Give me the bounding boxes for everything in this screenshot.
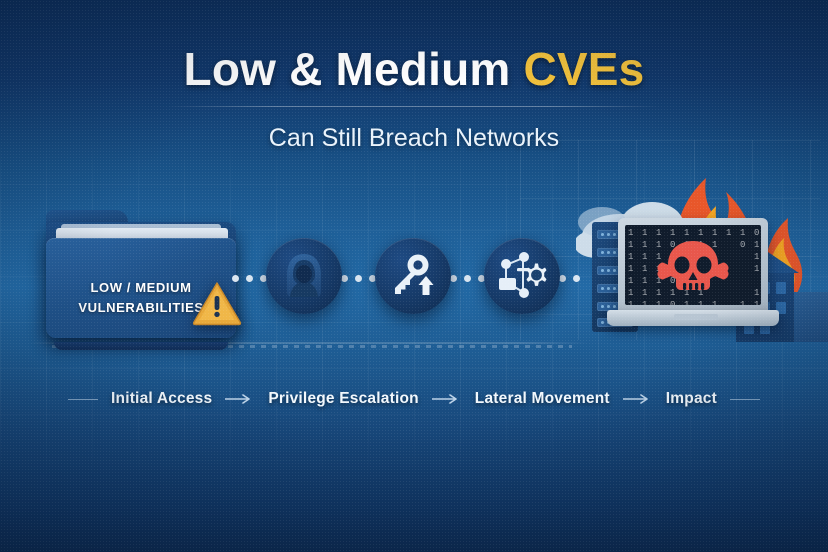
connector-dots-2 [341, 275, 376, 282]
dot [246, 275, 253, 282]
chain-line-start [68, 399, 98, 400]
stage-icon-privilege-escalation [375, 238, 451, 314]
infographic-canvas: Low & Medium CVEs Can Still Breach Netwo… [0, 0, 828, 552]
impact-scene: 1 1 1 1 1 1 1 1 1 0 1 0 1 1 1 1 1 1 0 1 … [576, 160, 828, 360]
folder-shadow-strip [54, 342, 228, 350]
key-up-arrow-icon [385, 248, 441, 304]
laptop-trackpad [674, 314, 718, 320]
burning-laptop-skull-icon: 1 1 1 1 1 1 1 1 1 0 1 0 1 1 1 1 1 1 0 1 … [618, 218, 768, 338]
dot [355, 275, 362, 282]
title-divider [168, 106, 660, 107]
page-title-plain: Low & Medium [184, 43, 524, 95]
stage-icon-initial-access [266, 238, 342, 314]
laptop-lid: 1 1 1 1 1 1 1 1 1 0 1 0 1 1 1 1 1 1 0 1 … [618, 218, 768, 312]
chain-step-impact: Impact [666, 390, 717, 408]
laptop-screen: 1 1 1 1 1 1 1 1 1 0 1 0 1 1 1 1 1 1 0 1 … [625, 225, 761, 305]
chain-step-privilege-escalation: Privilege Escalation [268, 390, 418, 408]
page-subtitle: Can Still Breach Networks [0, 124, 828, 153]
chain-arrow-icon [432, 394, 462, 404]
warning-triangle-icon [192, 280, 242, 326]
dot [559, 275, 566, 282]
chain-step-lateral-movement: Lateral Movement [475, 390, 610, 408]
chain-arrow-icon [623, 394, 653, 404]
attack-chain-labels: Initial Access Privilege Escalation Late… [0, 390, 828, 408]
header-block: Low & Medium CVEs [0, 44, 828, 95]
chain-arrow-icon [225, 394, 255, 404]
dot [450, 275, 457, 282]
office-building-secondary [790, 292, 828, 342]
skull-and-crossbones-icon [653, 239, 733, 302]
page-title: Low & Medium CVEs [0, 44, 828, 95]
hooded-hacker-icon [276, 248, 332, 304]
page-title-accent: CVEs [523, 43, 644, 95]
chain-line-end [730, 399, 760, 400]
connector-dots-3 [450, 275, 485, 282]
dot [232, 275, 239, 282]
dot [341, 275, 348, 282]
chain-step-initial-access: Initial Access [111, 390, 212, 408]
dot [464, 275, 471, 282]
network-gear-icon [493, 248, 551, 304]
building-window [776, 282, 786, 294]
stage-icon-lateral-movement [484, 238, 560, 314]
